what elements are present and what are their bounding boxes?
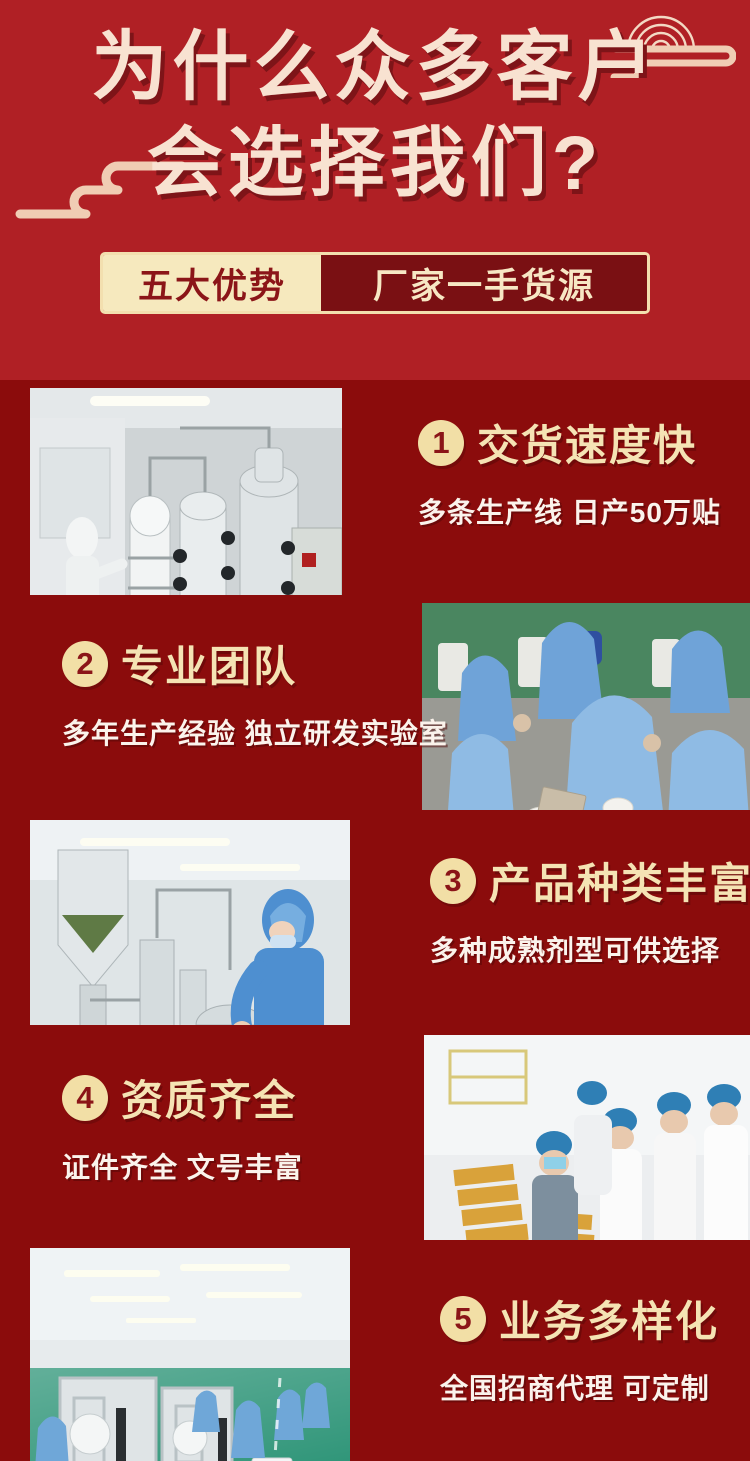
feature-row-5: 5 业务多样化 全国招商代理 可定制 (0, 1240, 750, 1461)
feature-row-1: 1 交货速度快 多条生产线 日产50万贴 (0, 380, 750, 595)
feature-subtitle-5: 全国招商代理 可定制 (440, 1367, 719, 1407)
feature-title-row-3: 3 产品种类丰富 (430, 850, 750, 911)
headline-line-1: 为什么众多客户 (0, 26, 750, 110)
feature-row-2: 2 专业团队 多年生产经验 独立研发实验室 (0, 595, 750, 810)
feature-title-4: 资质齐全 (121, 1067, 297, 1128)
badge-left-label: 五大优势 (138, 258, 286, 309)
badge-factory-direct: 厂家一手货源 (321, 255, 647, 311)
badge-right-label: 厂家一手货源 (373, 258, 595, 309)
poster-header: 为什么众多客户 会选择我们? 五大优势 厂家一手货源 (0, 0, 750, 380)
feature-subtitle-3: 多种成熟剂型可供选择 (430, 929, 750, 969)
feature-photo-5 (30, 1248, 350, 1461)
advantage-badge-bar: 五大优势 厂家一手货源 (100, 252, 650, 314)
badge-five-advantages: 五大优势 (103, 255, 321, 311)
feature-text-1: 1 交货速度快 多条生产线 日产50万贴 (418, 412, 721, 531)
feature-number-badge-2: 2 (62, 641, 108, 687)
feature-text-5: 5 业务多样化 全国招商代理 可定制 (440, 1288, 719, 1407)
feature-title-2: 专业团队 (121, 633, 297, 694)
feature-subtitle-1: 多条生产线 日产50万贴 (418, 491, 721, 531)
feature-subtitle-4: 证件齐全 文号丰富 (62, 1146, 303, 1186)
feature-text-4: 4 资质齐全 证件齐全 文号丰富 (62, 1067, 303, 1186)
feature-rows: 1 交货速度快 多条生产线 日产50万贴 (0, 380, 750, 1461)
feature-number-badge-4: 4 (62, 1075, 108, 1121)
promo-poster: 为什么众多客户 会选择我们? 五大优势 厂家一手货源 (0, 0, 750, 1461)
feature-title-5: 业务多样化 (499, 1288, 719, 1349)
feature-title-3: 产品种类丰富 (489, 850, 750, 911)
headline-group: 为什么众多客户 会选择我们? (0, 26, 750, 206)
feature-row-3: 3 产品种类丰富 多种成熟剂型可供选择 (0, 810, 750, 1025)
feature-number-badge-1: 1 (418, 420, 464, 466)
feature-text-3: 3 产品种类丰富 多种成熟剂型可供选择 (430, 850, 750, 969)
feature-title-1: 交货速度快 (477, 412, 697, 473)
feature-row-4: 4 资质齐全 证件齐全 文号丰富 (0, 1025, 750, 1240)
feature-number-badge-5: 5 (440, 1296, 486, 1342)
feature-subtitle-2: 多年生产经验 独立研发实验室 (62, 712, 448, 752)
feature-number-badge-3: 3 (430, 858, 476, 904)
feature-title-row-5: 5 业务多样化 (440, 1288, 719, 1349)
feature-text-2: 2 专业团队 多年生产经验 独立研发实验室 (62, 633, 448, 752)
headline-line-2: 会选择我们? (0, 122, 750, 206)
feature-title-row-1: 1 交货速度快 (418, 412, 721, 473)
feature-title-row-2: 2 专业团队 (62, 633, 448, 694)
feature-title-row-4: 4 资质齐全 (62, 1067, 303, 1128)
